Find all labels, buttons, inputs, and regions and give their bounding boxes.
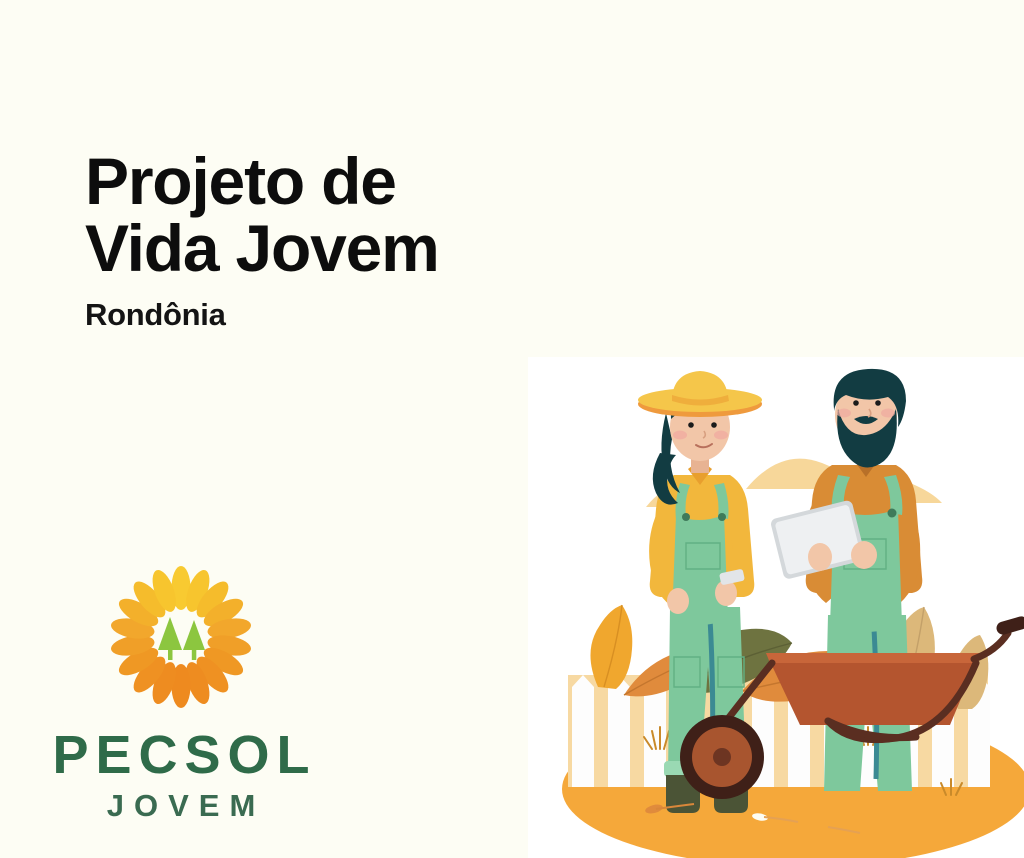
logo-wordmark: PECSOL	[36, 728, 326, 782]
slide-root: Projeto de Vida Jovem Rondônia	[0, 0, 1024, 858]
sunflower-icon	[106, 562, 256, 712]
sunflower-petals	[109, 566, 252, 708]
page-title-line-2: Vida Jovem	[85, 215, 515, 282]
title-block: Projeto de Vida Jovem Rondônia	[85, 148, 515, 333]
farm-illustration-panel	[528, 357, 1024, 858]
pine-trees-icon	[158, 617, 205, 660]
page-subtitle: Rondônia	[85, 297, 515, 333]
page-title-line-1: Projeto de	[85, 148, 515, 215]
pecsol-logo: PECSOL JOVEM	[36, 562, 326, 821]
logo-submark: JOVEM	[36, 790, 326, 821]
